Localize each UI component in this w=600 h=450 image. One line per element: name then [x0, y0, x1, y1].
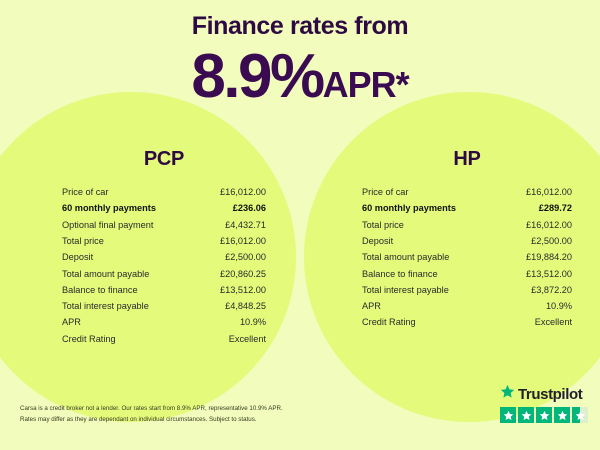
- finance-row-value: £13,512.00: [220, 285, 266, 295]
- finance-rows-pcp: Price of car£16,012.0060 monthly payment…: [62, 184, 266, 347]
- finance-row: 60 monthly payments£289.72: [362, 200, 572, 216]
- finance-row-value: £20,860.25: [220, 269, 266, 279]
- finance-row-label: Total interest payable: [362, 285, 449, 295]
- finance-row-label: APR: [62, 317, 81, 327]
- finance-row: APR10.9%: [62, 314, 266, 330]
- finance-row: Total price£16,012.00: [62, 233, 266, 249]
- finance-row: Credit RatingExcellent: [62, 331, 266, 347]
- finance-row: Total amount payable£20,860.25: [62, 265, 266, 281]
- finance-row-label: Credit Rating: [362, 317, 416, 327]
- finance-column-hp: HP Price of car£16,012.0060 monthly paym…: [300, 148, 600, 347]
- trustpilot-wordmark: Trustpilot: [518, 387, 582, 402]
- finance-row: 60 monthly payments£236.06: [62, 200, 266, 216]
- finance-row: Credit RatingExcellent: [362, 314, 572, 330]
- finance-row: Deposit£2,500.00: [362, 233, 572, 249]
- finance-row-value: £13,512.00: [526, 269, 572, 279]
- finance-row-value: £2,500.00: [225, 252, 266, 262]
- finance-row-value: £289.72: [539, 203, 572, 213]
- disclaimer-text: Carsa is a credit broker not a lender. O…: [20, 403, 350, 426]
- trustpilot-rating[interactable]: Trustpilot: [500, 384, 588, 423]
- finance-row-value: £16,012.00: [220, 236, 266, 246]
- finance-row-value: £16,012.00: [526, 220, 572, 230]
- finance-row-label: 60 monthly payments: [362, 203, 456, 213]
- headline-apr-label: APR*: [323, 64, 409, 105]
- headline-rate-value: 8.9%: [191, 42, 322, 111]
- finance-row-label: Total price: [62, 236, 104, 246]
- finance-row-label: Total amount payable: [62, 269, 149, 279]
- column-title-pcp: PCP: [62, 148, 266, 171]
- finance-row-label: Price of car: [62, 187, 108, 197]
- finance-row-label: Deposit: [362, 236, 393, 246]
- finance-column-pcp: PCP Price of car£16,012.0060 monthly pay…: [0, 148, 300, 347]
- finance-row-label: Total amount payable: [362, 252, 449, 262]
- disclaimer-line-1: Carsa is a credit broker not a lender. O…: [20, 403, 350, 414]
- finance-row-label: APR: [362, 301, 381, 311]
- disclaimer-line-2: Rates may differ as they are dependant o…: [20, 414, 350, 425]
- finance-row-label: Balance to finance: [62, 285, 138, 295]
- finance-row: Price of car£16,012.00: [62, 184, 266, 200]
- finance-row-label: Credit Rating: [62, 334, 116, 344]
- finance-row: Deposit£2,500.00: [62, 249, 266, 265]
- finance-rows-hp: Price of car£16,012.0060 monthly payment…: [362, 184, 572, 331]
- finance-row-value: 10.9%: [240, 317, 266, 327]
- finance-row-value: £236.06: [233, 203, 266, 213]
- finance-row-label: Price of car: [362, 187, 408, 197]
- finance-row-label: Balance to finance: [362, 269, 438, 279]
- finance-row-value: £2,500.00: [531, 236, 572, 246]
- finance-row-label: Optional final payment: [62, 220, 153, 230]
- finance-row: Optional final payment£4,432.71: [62, 217, 266, 233]
- trustpilot-star-full: [554, 407, 570, 423]
- finance-row-label: Deposit: [62, 252, 93, 262]
- finance-rates-banner: Finance rates from 8.9%APR* PCP Price of…: [0, 0, 600, 450]
- finance-row: Balance to finance£13,512.00: [62, 282, 266, 298]
- finance-row-value: £16,012.00: [526, 187, 572, 197]
- finance-row-label: Total price: [362, 220, 404, 230]
- finance-row-value: £19,884.20: [526, 252, 572, 262]
- trustpilot-star-icon: [500, 384, 515, 404]
- trustpilot-star-full: [518, 407, 534, 423]
- trustpilot-star-full: [500, 407, 516, 423]
- finance-row-value: £16,012.00: [220, 187, 266, 197]
- finance-row: Total interest payable£4,848.25: [62, 298, 266, 314]
- trustpilot-star-half: [572, 407, 588, 423]
- headline-rate-line: 8.9%APR*: [0, 46, 600, 108]
- trustpilot-star-tiles: [500, 407, 588, 423]
- finance-row: Total amount payable£19,884.20: [362, 249, 572, 265]
- finance-row-value: £4,848.25: [225, 301, 266, 311]
- finance-row: Total interest payable£3,872.20: [362, 282, 572, 298]
- finance-row: Price of car£16,012.00: [362, 184, 572, 200]
- column-title-hp: HP: [362, 148, 572, 171]
- finance-row-value: Excellent: [535, 317, 572, 327]
- finance-row: APR10.9%: [362, 298, 572, 314]
- finance-row-value: £3,872.20: [531, 285, 572, 295]
- finance-row-value: Excellent: [229, 334, 266, 344]
- finance-comparison-columns: PCP Price of car£16,012.0060 monthly pay…: [0, 148, 600, 347]
- page-title: Finance rates from: [0, 14, 600, 39]
- finance-row: Total price£16,012.00: [362, 217, 572, 233]
- finance-row-label: 60 monthly payments: [62, 203, 156, 213]
- finance-row-value: 10.9%: [546, 301, 572, 311]
- trustpilot-star-full: [536, 407, 552, 423]
- finance-row-label: Total interest payable: [62, 301, 149, 311]
- trustpilot-brand: Trustpilot: [500, 384, 588, 404]
- finance-row: Balance to finance£13,512.00: [362, 265, 572, 281]
- finance-row-value: £4,432.71: [225, 220, 266, 230]
- banner-header: Finance rates from 8.9%APR*: [0, 14, 600, 108]
